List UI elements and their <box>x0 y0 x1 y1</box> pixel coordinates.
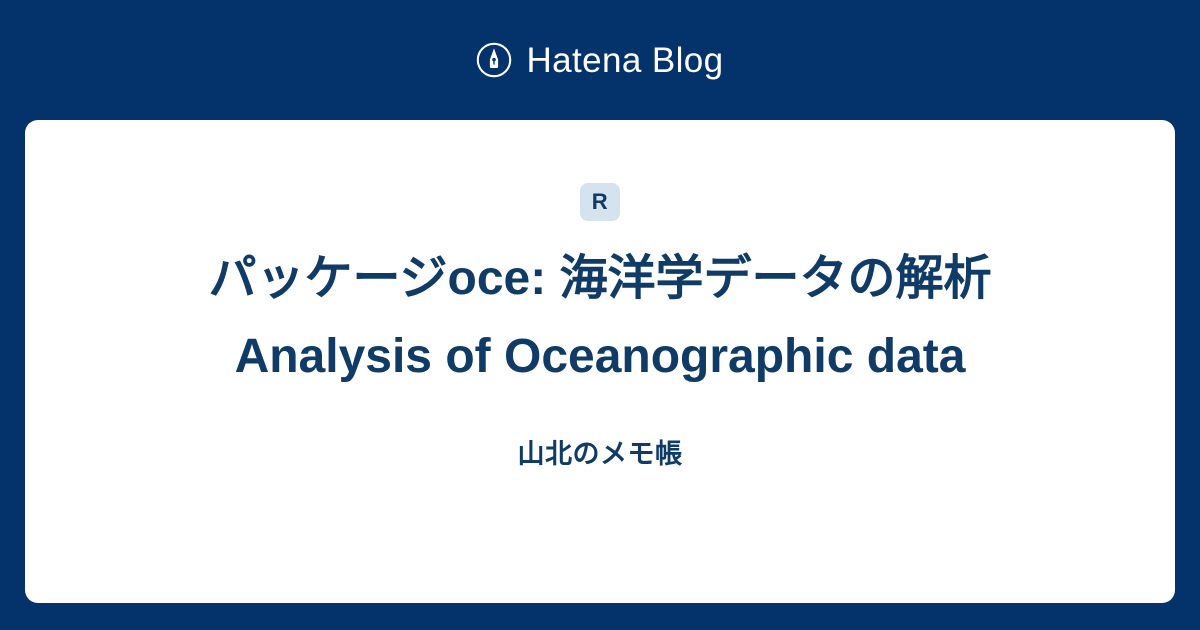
entry-title: パッケージoce: 海洋学データの解析Analysis of Oceanogra… <box>120 240 1080 396</box>
badge-row: R <box>120 183 1080 221</box>
og-share-card: Hatena Blog R パッケージoce: 海洋学データの解析Analysi… <box>0 0 1200 630</box>
brand-header: Hatena Blog <box>0 0 1200 120</box>
r-language-badge: R <box>580 183 620 221</box>
entry-card: R パッケージoce: 海洋学データの解析Analysis of Oceanog… <box>25 120 1175 603</box>
blog-name: 山北のメモ帳 <box>120 438 1080 470</box>
fountain-pen-nib-circle-icon <box>476 42 512 78</box>
brand-name: Hatena Blog <box>526 43 723 78</box>
